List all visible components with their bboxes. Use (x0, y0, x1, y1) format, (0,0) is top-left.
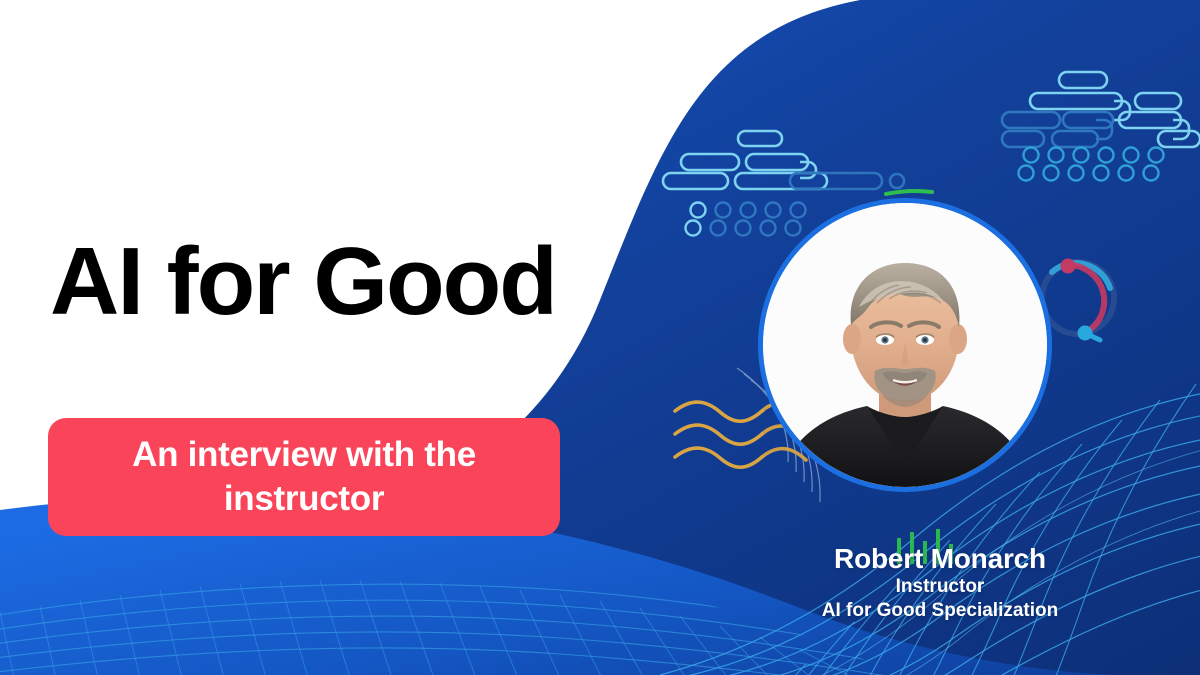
instructor-program: AI for Good Specialization (760, 599, 1120, 623)
instructor-name: Robert Monarch (760, 543, 1120, 574)
slide-canvas: AI for Good An interview with the instru… (0, 0, 1200, 675)
instructor-role: Instructor (760, 575, 1120, 599)
badge-line-1: An interview with the (132, 435, 476, 474)
page-title: AI for Good (50, 232, 556, 333)
interview-badge: An interview with the instructor (48, 418, 560, 536)
badge-line-2: instructor (224, 479, 384, 518)
avatar-photo (763, 203, 1047, 487)
instructor-avatar (758, 198, 1052, 492)
instructor-name-block: Robert Monarch Instructor AI for Good Sp… (760, 543, 1120, 623)
interview-badge-text: An interview with the instructor (132, 433, 476, 521)
